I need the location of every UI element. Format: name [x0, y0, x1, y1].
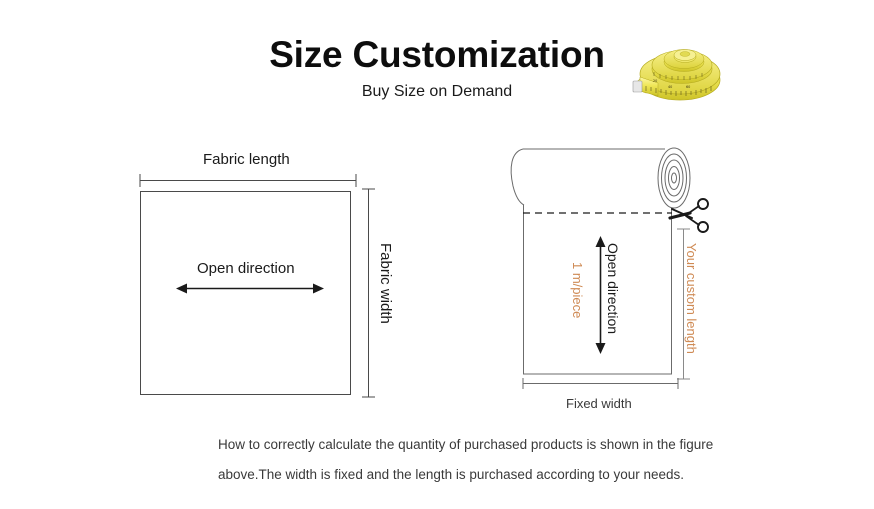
piece-length-label: 1 m/piece: [569, 262, 586, 318]
caption-line-1: How to correctly calculate the quantity …: [218, 430, 748, 460]
page-title: Size Customization: [0, 33, 874, 77]
caption-line-2: above.The width is fixed and the length …: [218, 460, 748, 490]
open-direction-label-left: Open direction: [197, 260, 295, 277]
svg-text:40: 40: [668, 85, 672, 89]
fabric-width-dimension-line: [361, 185, 377, 401]
fabric-width-label: Fabric width: [377, 243, 394, 324]
svg-text:20: 20: [653, 79, 657, 83]
fixed-width-label: Fixed width: [566, 395, 632, 412]
open-direction-label-right: Open direction: [604, 243, 621, 334]
measuring-tape-icon: 40 60 20: [624, 36, 734, 110]
svg-text:60: 60: [686, 85, 690, 89]
size-customization-page: Size Customization Buy Size on Demand: [0, 0, 874, 509]
fabric-length-dimension-line: [136, 172, 360, 190]
caption: How to correctly calculate the quantity …: [218, 430, 748, 490]
custom-length-label: Your custom length: [683, 243, 700, 354]
double-arrow-horizontal-icon: [174, 280, 326, 297]
fabric-length-label: Fabric length: [203, 151, 290, 168]
fixed-width-dimension-line: [518, 376, 683, 392]
page-subtitle: Buy Size on Demand: [0, 82, 874, 102]
